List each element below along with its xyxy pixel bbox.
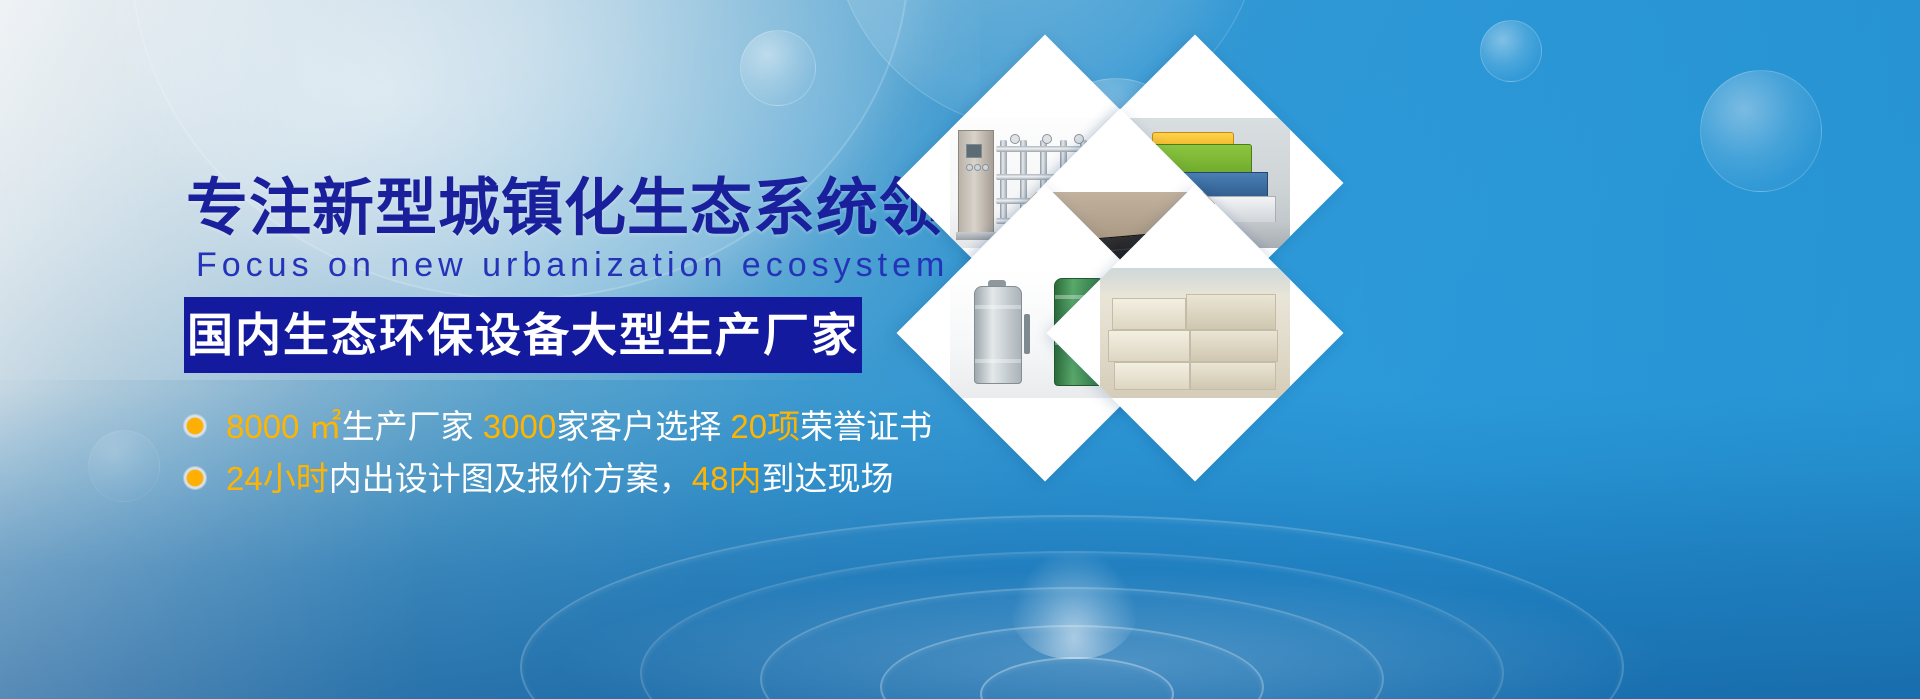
- bullet-highlight: 48内: [692, 460, 762, 497]
- list-item: 8000 ㎡生产厂家 3000家客户选择 20项荣誉证书: [184, 400, 924, 452]
- bullet-highlight: 20项: [730, 408, 800, 445]
- bullet-highlight: 24小时: [226, 460, 329, 497]
- banner-ribbon-text: 国内生态环保设备大型生产厂家: [187, 312, 859, 358]
- list-item: 24小时内出设计图及报价方案，48内到达现场: [184, 452, 924, 504]
- bullet-plain: 生产厂家: [342, 408, 483, 445]
- bullet-highlight: 3000: [483, 408, 556, 445]
- bullet-dot-icon: [184, 467, 206, 489]
- banner-copy: 专注新型城镇化生态系统领域 Focus on new urbanization …: [0, 0, 960, 699]
- bullet-text: 8000 ㎡生产厂家 3000家客户选择 20项荣誉证书: [226, 410, 932, 443]
- banner-headline: 专注新型城镇化生态系统领域: [186, 178, 1005, 240]
- banner-ribbon: 国内生态环保设备大型生产厂家: [184, 297, 862, 373]
- banner-bullet-list: 8000 ㎡生产厂家 3000家客户选择 20项荣誉证书 24小时内出设计图及报…: [184, 400, 924, 504]
- bullet-text: 24小时内出设计图及报价方案，48内到达现场: [226, 462, 893, 495]
- banner-subtitle: Focus on new urbanization ecosystem: [196, 248, 949, 282]
- hero-banner: 专注新型城镇化生态系统领域 Focus on new urbanization …: [0, 0, 1920, 699]
- stacked-blocks-photo: [1100, 268, 1290, 398]
- bullet-plain: 到达现场: [761, 460, 893, 497]
- bullet-highlight: ㎡: [309, 408, 342, 445]
- bullet-plain: 内出设计图及报价方案，: [329, 460, 692, 497]
- bullet-dot-icon: [184, 415, 206, 437]
- product-diamond-gallery: [900, 0, 1920, 699]
- bullet-plain: 家客户选择: [556, 408, 730, 445]
- bullet-highlight: 8000: [226, 408, 309, 445]
